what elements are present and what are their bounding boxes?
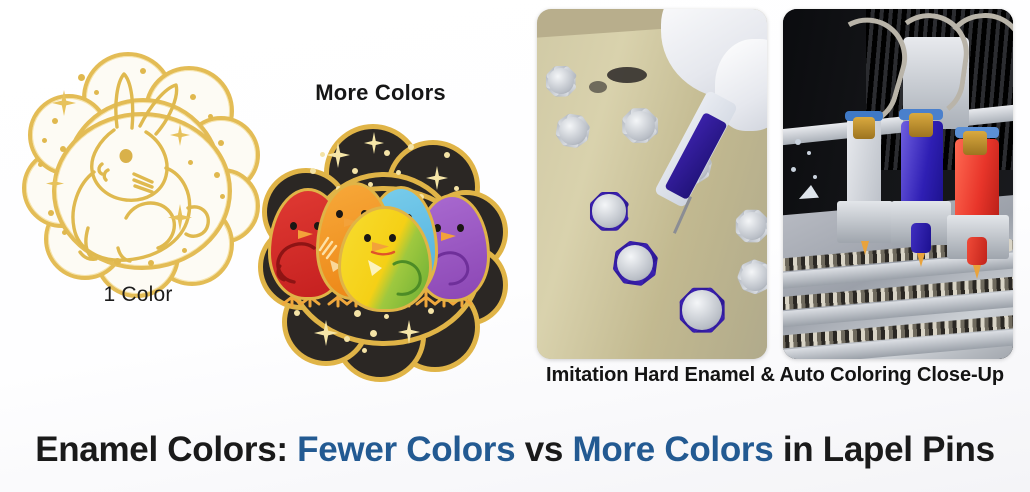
gear-pin-blue-filled (659, 267, 745, 353)
pin-label-one-color: 1 Color (58, 283, 218, 307)
gear-pin-silver (607, 93, 673, 159)
page-title: Enamel Colors: Fewer Colors vs More Colo… (0, 430, 1030, 470)
title-part-more-colors: More Colors (573, 430, 774, 469)
title-part-vs: vs (525, 430, 563, 469)
photo-caption: Imitation Hard Enamel & Auto Coloring Cl… (527, 364, 1023, 387)
dispenser-nozzle (973, 265, 981, 279)
pin-single-color-rabbit (22, 52, 252, 282)
title-part-5: in Lapel Pins (783, 430, 995, 469)
rabbit-illustration (22, 52, 252, 282)
dispenser-nozzle (861, 241, 869, 255)
dispenser-clamp (837, 201, 893, 243)
gear-pin-silver (543, 101, 603, 161)
title-part-1: Enamel Colors: (35, 430, 288, 469)
title-part-fewer-colors: Fewer Colors (297, 430, 515, 469)
photo-auto-coloring-machine (783, 9, 1013, 359)
infographic-canvas: 1 Color More Colors (0, 0, 1030, 492)
photo-imitation-hard-enamel (537, 9, 767, 359)
dispenser-nozzle (917, 253, 925, 267)
pin-multi-color-chicks (258, 124, 498, 366)
chick-yellow-green (338, 206, 426, 306)
pin-label-more-colors: More Colors (288, 80, 473, 106)
